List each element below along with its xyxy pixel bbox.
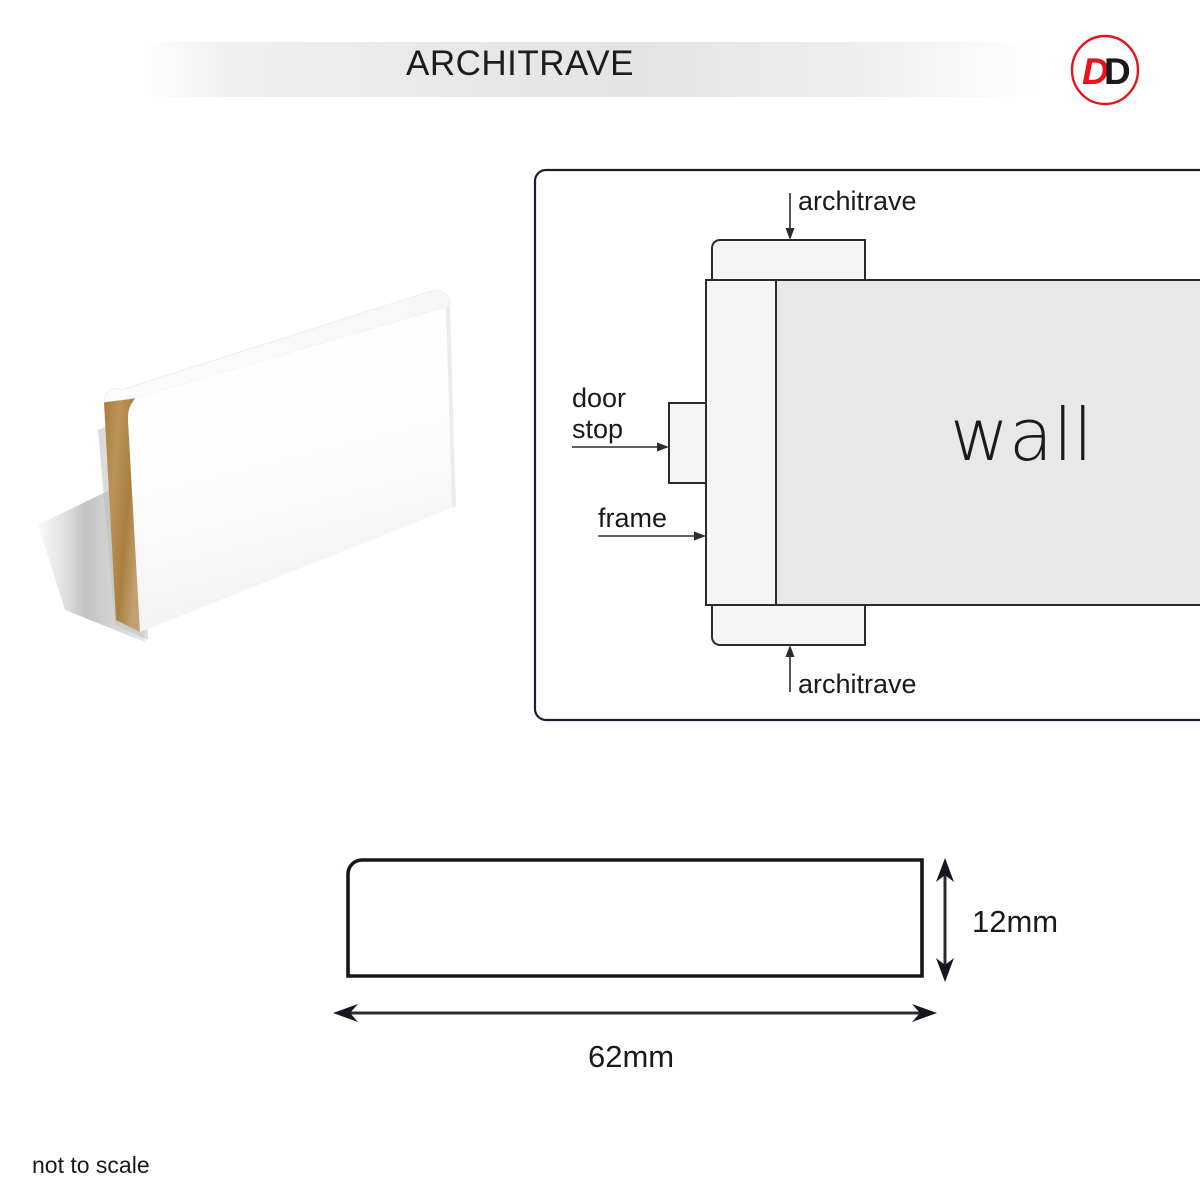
label-frame: frame — [598, 503, 706, 541]
architrave-top-label: architrave — [798, 186, 917, 216]
height-dimension-label: 12mm — [972, 904, 1058, 939]
door-stop-shape — [669, 403, 706, 483]
architrave-bottom-label: architrave — [798, 669, 917, 699]
frame-shape — [706, 280, 776, 605]
frame-arrowhead — [694, 532, 706, 541]
wall-label: wall — [950, 393, 1093, 477]
label-door-stop: door stop — [572, 383, 669, 452]
width-dimension-label: 62mm — [588, 1039, 674, 1074]
dimension-height: 12mm — [936, 858, 1058, 982]
label-architrave-bottom: architrave — [786, 645, 917, 699]
architrave-bottom-arrowhead — [786, 645, 795, 657]
profile-dimension-drawing: 12mm 62mm — [300, 840, 1100, 1090]
door-stop-label-line1: door — [572, 383, 626, 413]
logo-letter-second: D — [1104, 51, 1131, 92]
architrave-bottom-shape — [712, 605, 865, 645]
door-stop-arrowhead — [657, 443, 669, 452]
dimension-width: 62mm — [333, 1004, 937, 1074]
dd-logo[interactable]: D D — [1068, 34, 1142, 106]
label-architrave-top: architrave — [786, 186, 917, 240]
page-title: ARCHITRAVE — [0, 44, 1040, 84]
scale-note: not to scale — [32, 1152, 150, 1179]
section-diagram: architrave architrave door stop frame wa… — [520, 155, 1200, 735]
profile-shape — [348, 860, 922, 976]
door-stop-label-line2: stop — [572, 414, 623, 444]
header-banner: ARCHITRAVE D D — [0, 0, 1200, 130]
frame-label: frame — [598, 503, 667, 533]
architrave-top-arrowhead — [786, 228, 795, 240]
architrave-top-shape — [712, 240, 865, 280]
architrave-3d-render — [20, 280, 470, 670]
render-front-face — [128, 306, 456, 632]
